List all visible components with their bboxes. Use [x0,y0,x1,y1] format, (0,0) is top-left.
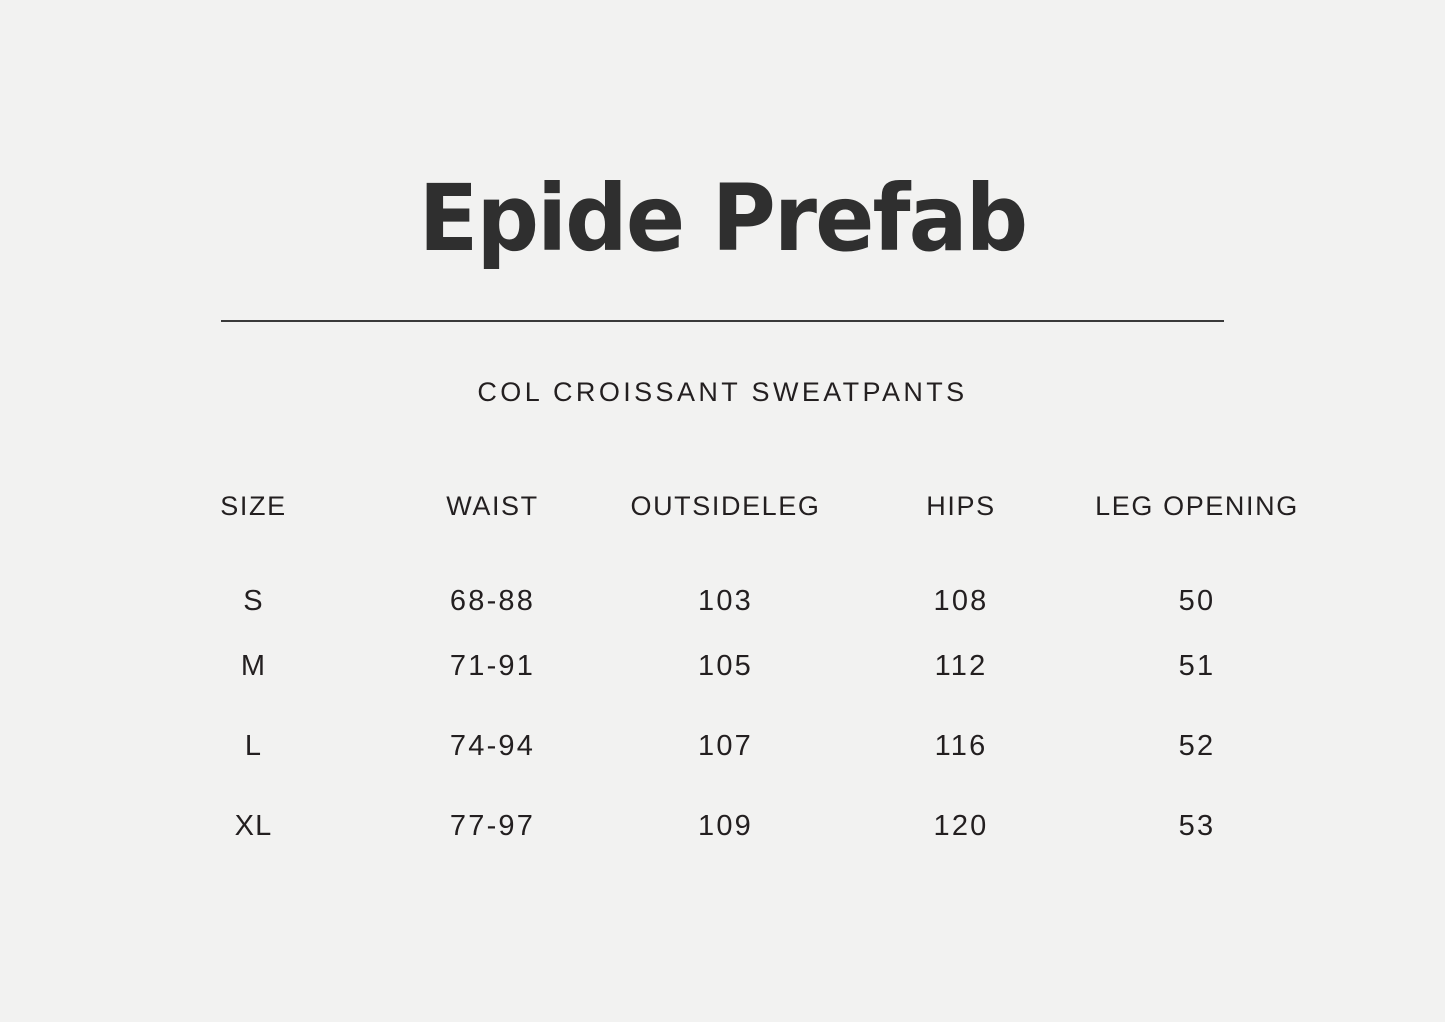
column-header-outsideleg: OUTSIDELEG [608,478,843,534]
cell-leg-opening: 51 [1079,626,1315,706]
column-header-waist: WAIST [377,478,608,534]
cell-outsideleg: 109 [608,786,843,866]
product-subtitle: COL CROISSANT SWEATPANTS [0,377,1445,408]
table-row: L 74-94 107 116 52 [130,706,1315,786]
cell-hips: 120 [843,786,1079,866]
table-body: S 68-88 103 108 50 M 71-91 105 112 51 L … [130,534,1315,866]
size-chart-page: Epide Prefab COL CROISSANT SWEATPANTS SI… [0,0,1445,1022]
cell-waist: 68-88 [377,534,608,626]
table-row: M 71-91 105 112 51 [130,626,1315,706]
cell-waist: 71-91 [377,626,608,706]
column-header-size: SIZE [130,478,377,534]
cell-waist: 74-94 [377,706,608,786]
cell-outsideleg: 103 [608,534,843,626]
table-row: S 68-88 103 108 50 [130,534,1315,626]
column-header-leg-opening: LEG OPENING [1079,478,1315,534]
table-row: XL 77-97 109 120 53 [130,786,1315,866]
cell-outsideleg: 107 [608,706,843,786]
cell-outsideleg: 105 [608,626,843,706]
cell-hips: 116 [843,706,1079,786]
header-divider [221,320,1224,322]
cell-hips: 108 [843,534,1079,626]
cell-size: L [130,706,377,786]
cell-size: XL [130,786,377,866]
cell-leg-opening: 52 [1079,706,1315,786]
cell-leg-opening: 50 [1079,534,1315,626]
cell-hips: 112 [843,626,1079,706]
size-chart-table: SIZE WAIST OUTSIDELEG HIPS LEG OPENING S… [130,478,1315,866]
cell-leg-opening: 53 [1079,786,1315,866]
cell-size: M [130,626,377,706]
page-title: Epide Prefab [36,173,1409,265]
table-header-row: SIZE WAIST OUTSIDELEG HIPS LEG OPENING [130,478,1315,534]
cell-size: S [130,534,377,626]
column-header-hips: HIPS [843,478,1079,534]
cell-waist: 77-97 [377,786,608,866]
table-header: SIZE WAIST OUTSIDELEG HIPS LEG OPENING [130,478,1315,534]
